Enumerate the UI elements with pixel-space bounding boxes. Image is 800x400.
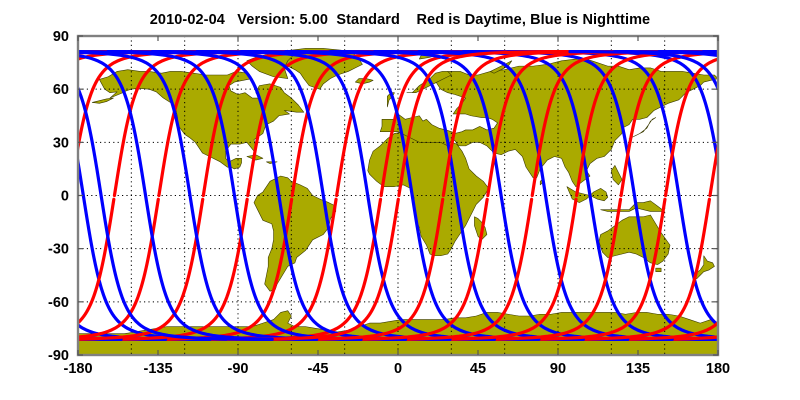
ground-track-figure: 2010-02-04 Version: 5.00 Standard Red is… [0,0,800,400]
y-tick-label: -60 [48,295,69,311]
x-tick-label: -45 [308,361,329,377]
y-tick-label: -30 [48,242,69,258]
x-tick-label: 0 [394,361,402,377]
x-tick-label: 45 [470,361,486,377]
ground-track-plot: -180-135-90-4504590135180 -90-60-3003060… [0,0,800,400]
y-axis-labels: -90-60-300306090 [48,29,69,364]
x-tick-label: 90 [550,361,566,377]
y-tick-label: 30 [53,135,69,151]
y-tick-label: 0 [61,189,69,205]
x-tick-label: 180 [706,361,730,377]
y-tick-label: 90 [53,29,69,45]
y-tick-label: -90 [48,348,69,364]
x-axis-labels: -180-135-90-4504590135180 [63,361,730,377]
x-tick-label: 135 [626,361,650,377]
x-tick-label: -135 [143,361,172,377]
x-tick-label: -90 [228,361,249,377]
y-tick-label: 60 [53,82,69,98]
